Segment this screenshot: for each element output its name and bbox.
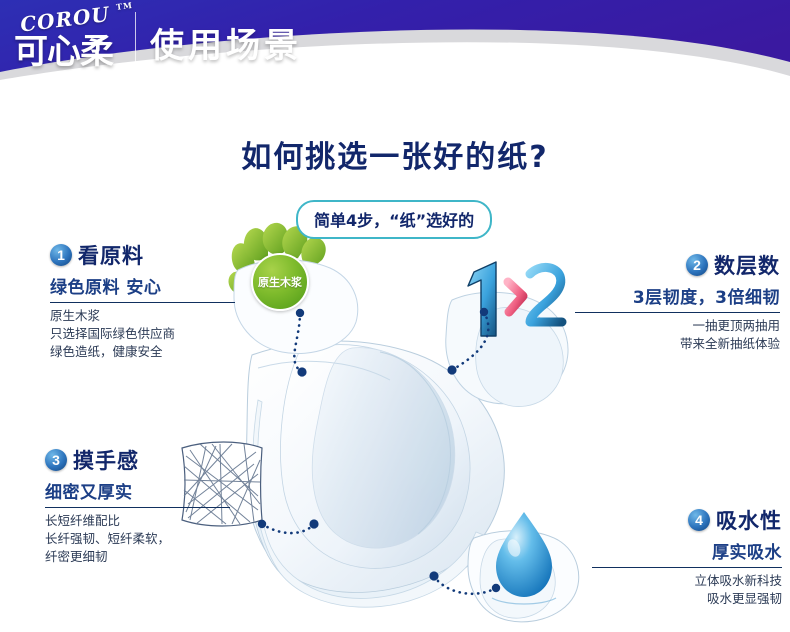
header-title: 使用场景 — [150, 18, 302, 67]
feature-block-2: 2 数层数 3层韧度，3倍细韧 一抽更顶两抽用带来全新抽纸体验 — [575, 250, 780, 353]
feature-1-subtitle: 绿色原料 安心 — [50, 273, 235, 298]
feature-3-subtitle: 细密又厚实 — [45, 478, 230, 503]
feature-4-title: 吸水性 — [716, 505, 782, 535]
feature-2-subtitle: 3层韧度，3倍细韧 — [575, 283, 780, 308]
feature-2-number-badge: 2 — [686, 254, 708, 276]
feature-3-number-badge: 3 — [45, 449, 67, 471]
feature-4-rule — [592, 567, 782, 568]
feature-1-title: 看原料 — [78, 240, 144, 270]
feature-4-heading: 4 吸水性 — [592, 505, 782, 535]
feature-4-subtitle: 厚实吸水 — [592, 538, 782, 563]
feature-1-body: 原生木浆只选择国际绿色供应商绿色造纸，健康安全 — [50, 307, 235, 360]
subtitle-pill: 简单4步，“纸”选好的 — [296, 200, 492, 239]
feature-3-title: 摸手感 — [73, 445, 139, 475]
pulp-badge-circle: 原生木浆 — [251, 253, 309, 311]
feature-2-heading: 2 数层数 — [575, 250, 780, 280]
feature-3-rule — [45, 507, 230, 508]
infographic-page: COROUTM 可心柔 使用场景 如何挑选一张好的纸? 简单4步，“纸”选好的 — [0, 0, 790, 632]
feature-block-1: 1 看原料 绿色原料 安心 原生木浆只选择国际绿色供应商绿色造纸，健康安全 — [50, 240, 235, 360]
feature-block-3: 3 摸手感 细密又厚实 长短纤维配比长纤强韧、短纤柔软，纤密更细韧 — [45, 445, 230, 565]
brand-chinese-name: 可心柔 — [14, 24, 134, 73]
feature-1-rule — [50, 302, 235, 303]
pulp-badge-label: 原生木浆 — [258, 274, 302, 290]
feature-2-body: 一抽更顶两抽用带来全新抽纸体验 — [575, 317, 780, 353]
feature-4-number-badge: 4 — [688, 509, 710, 531]
trademark-icon: TM — [116, 0, 134, 12]
brand-logo: COROUTM 可心柔 — [12, 6, 132, 72]
feature-3-body: 长短纤维配比长纤强韧、短纤柔软，纤密更细韧 — [45, 512, 230, 565]
feature-1-number-badge: 1 — [50, 244, 72, 266]
feature-4-body: 立体吸水新科技吸水更显强韧 — [592, 572, 782, 608]
feature-3-heading: 3 摸手感 — [45, 445, 230, 475]
feature-2-rule — [575, 312, 780, 313]
feature-block-4: 4 吸水性 厚实吸水 立体吸水新科技吸水更显强韧 — [592, 505, 782, 608]
feature-2-title: 数层数 — [714, 250, 780, 280]
header-divider — [135, 12, 136, 68]
pulp-badge: 原生木浆 — [243, 243, 313, 313]
page-header: COROUTM 可心柔 使用场景 — [0, 0, 790, 96]
layer-count-graphic — [446, 262, 568, 407]
feature-1-heading: 1 看原料 — [50, 240, 235, 270]
